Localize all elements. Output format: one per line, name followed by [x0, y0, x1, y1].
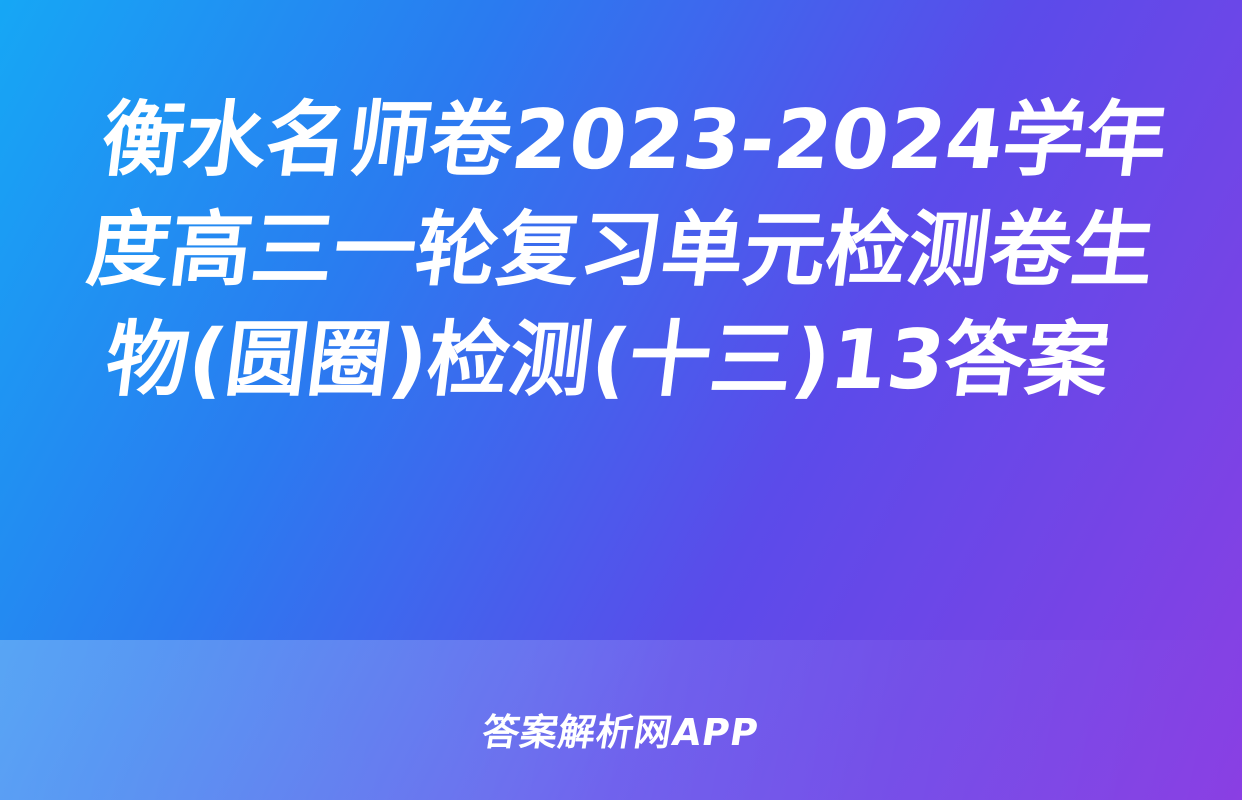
- app-branding: 答案解析网APP: [0, 702, 1242, 756]
- promo-banner: 衡水名师卷2023-2024学年度高三一轮复习单元检测卷生物(圆圈)检测(十三)…: [0, 0, 1242, 800]
- app-name-label: 答案解析网APP: [479, 702, 763, 756]
- page-title: 衡水名师卷2023-2024学年度高三一轮复习单元检测卷生物(圆圈)检测(十三)…: [0, 86, 1242, 416]
